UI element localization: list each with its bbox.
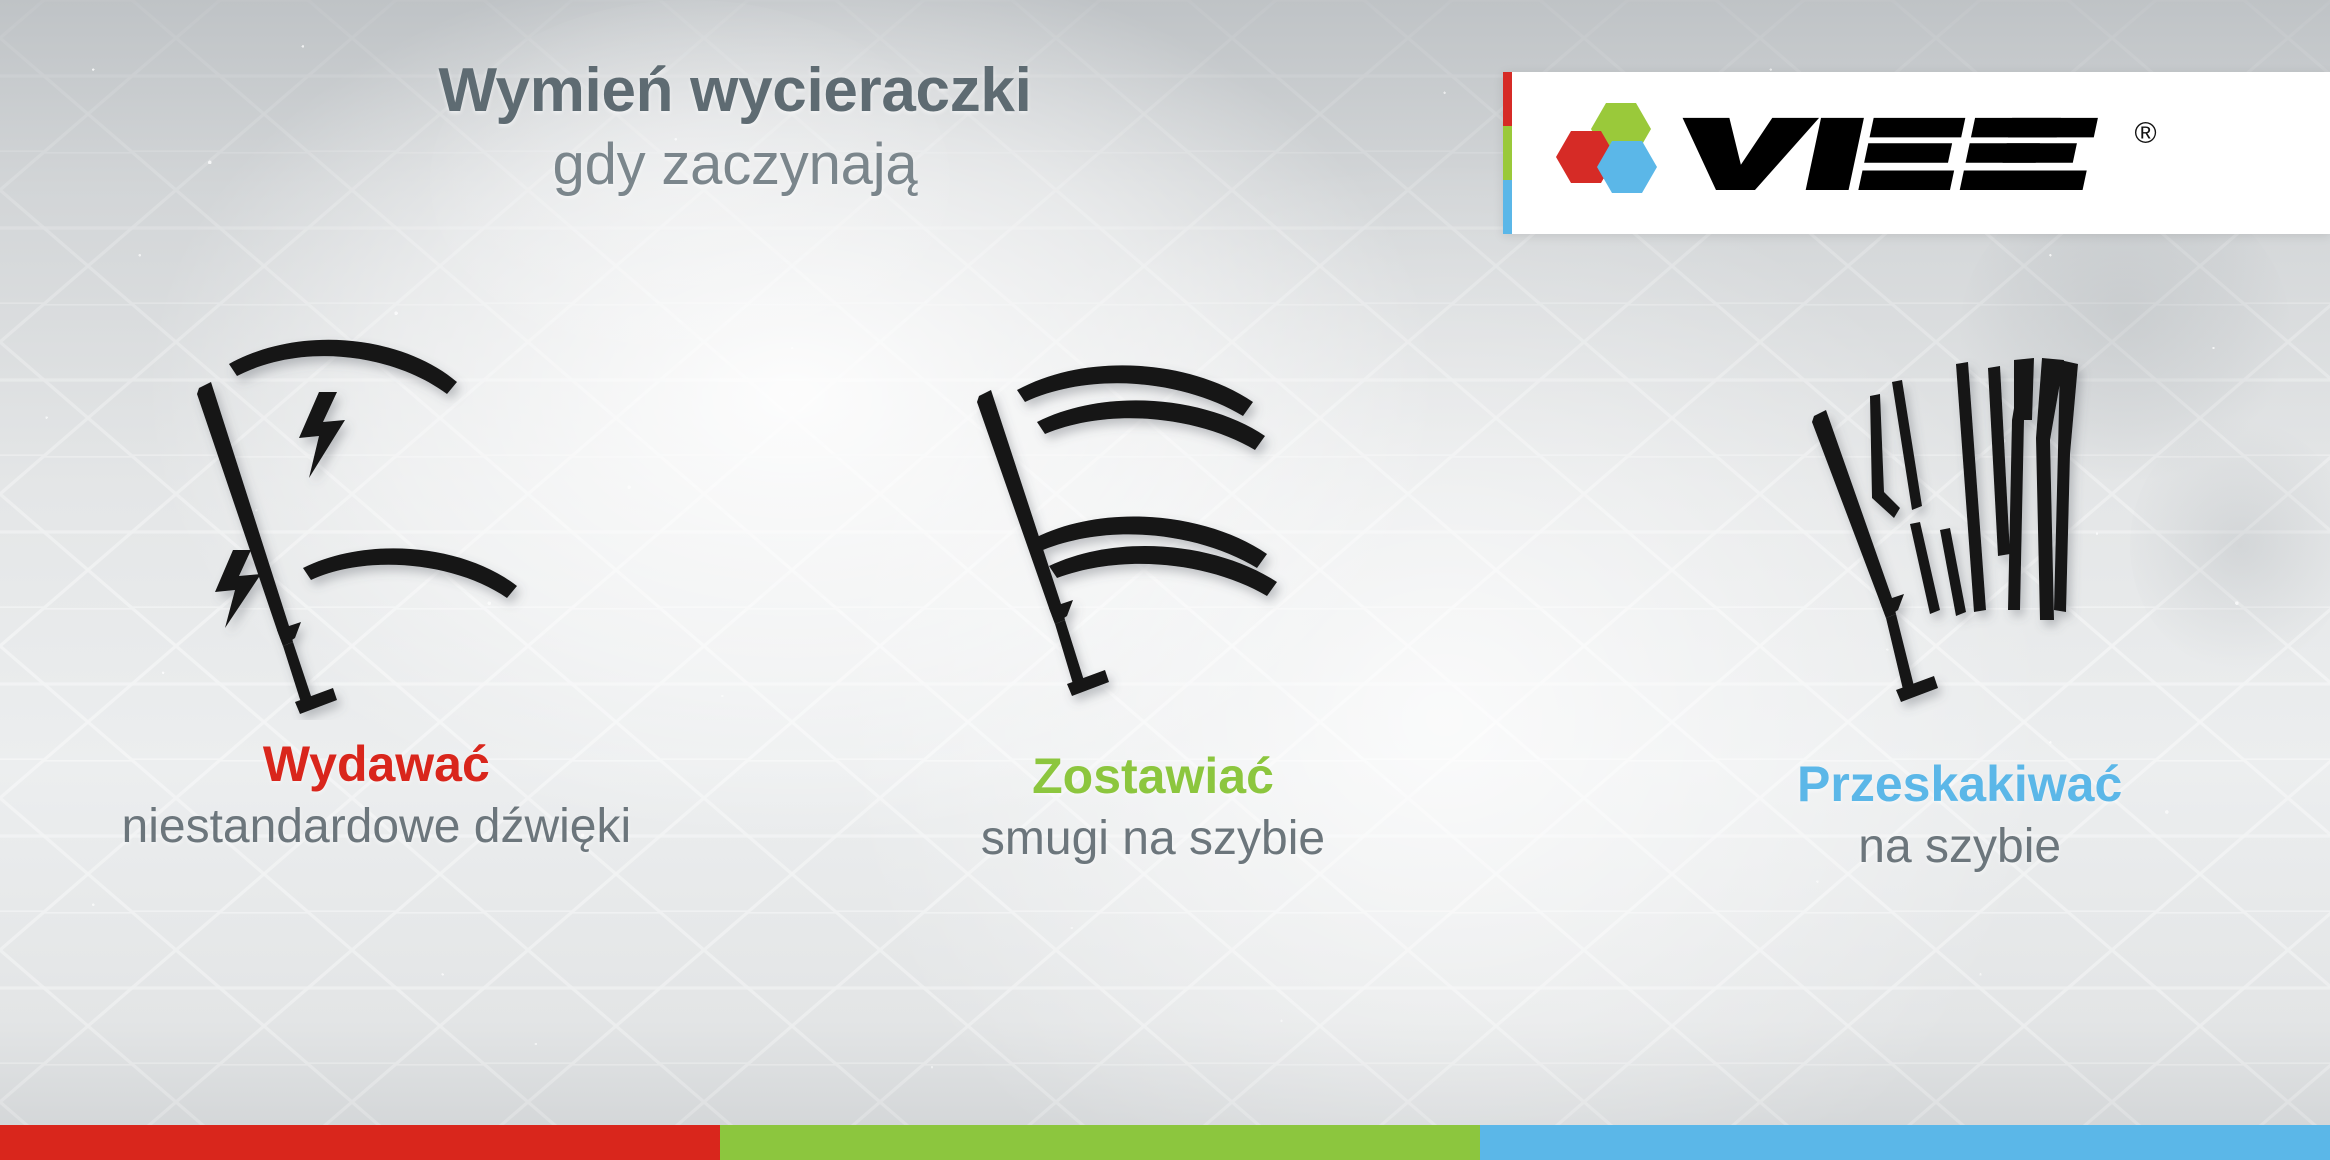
feature-column-juddering: Przeskakiwać na szybie bbox=[1553, 330, 2330, 1010]
headline-line-1: Wymień wycieraczki bbox=[0, 60, 1470, 122]
feature-text-noise: Wydawać niestandardowe dźwięki bbox=[122, 738, 632, 853]
feature-columns: Wydawać niestandardowe dźwięki bbox=[0, 330, 2330, 1010]
logo-accent-bar bbox=[1503, 72, 1512, 234]
feature-subtitle-streaks: smugi na szybie bbox=[981, 813, 1325, 866]
wiper-streaks-icon bbox=[753, 352, 1530, 772]
bottom-bar-segment-green bbox=[720, 1125, 1480, 1160]
logo-accent-bar-red bbox=[1503, 72, 1512, 126]
feature-subtitle-juddering: na szybie bbox=[1797, 821, 2122, 874]
feature-subtitle-noise: niestandardowe dźwięki bbox=[122, 801, 632, 854]
registered-trademark-symbol: ® bbox=[2135, 117, 2157, 151]
bottom-color-bar bbox=[0, 1125, 2330, 1160]
headline: Wymień wycieraczki gdy zaczynają bbox=[0, 60, 1470, 194]
bottom-bar-segment-blue bbox=[1480, 1125, 2330, 1160]
visee-hexagons-icon bbox=[1554, 101, 1666, 205]
feature-title-noise: Wydawać bbox=[122, 738, 632, 791]
wiper-juddering-icon bbox=[1569, 342, 2330, 762]
feature-title-streaks: Zostawiać bbox=[981, 750, 1325, 803]
visee-wordmark-icon bbox=[1660, 114, 2109, 192]
feature-column-noise: Wydawać niestandardowe dźwięki bbox=[0, 330, 777, 1010]
bottom-bar-segment-red bbox=[0, 1125, 720, 1160]
poster-canvas: Wymień wycieraczki gdy zaczynają ® bbox=[0, 0, 2330, 1160]
feature-title-juddering: Przeskakiwać bbox=[1797, 758, 2122, 811]
headline-line-2: gdy zaczynają bbox=[0, 136, 1470, 194]
wiper-noise-icon bbox=[0, 330, 755, 750]
feature-column-streaks: Zostawiać smugi na szybie bbox=[777, 330, 1554, 1010]
logo-accent-bar-blue bbox=[1503, 180, 1512, 234]
feature-text-streaks: Zostawiać smugi na szybie bbox=[981, 750, 1325, 865]
logo-accent-bar-green bbox=[1503, 126, 1512, 180]
brand-logo-panel: ® bbox=[1503, 72, 2330, 234]
feature-text-juddering: Przeskakiwać na szybie bbox=[1797, 758, 2122, 873]
brand-logo: ® bbox=[1554, 101, 2157, 205]
